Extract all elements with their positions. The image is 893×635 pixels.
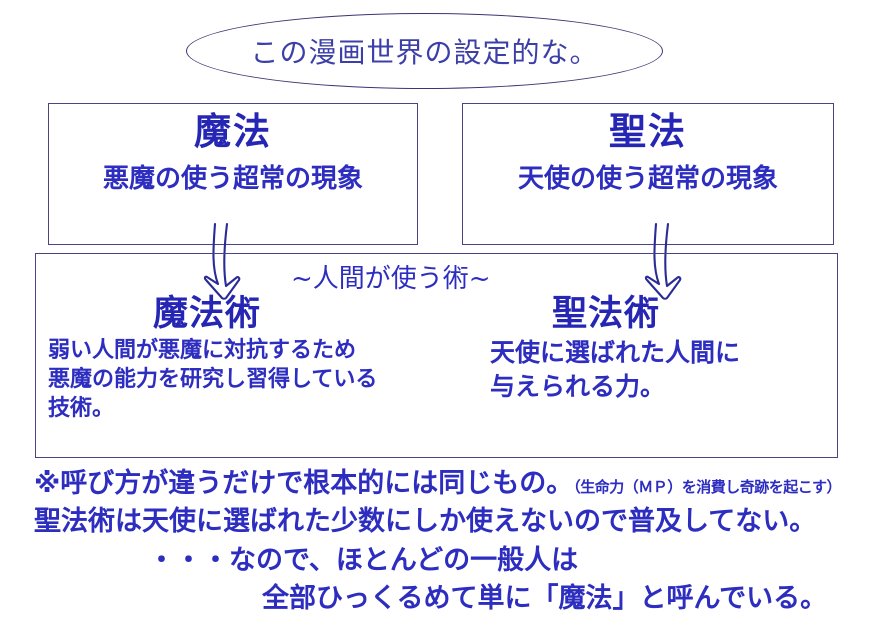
column-magic-art: 魔法術 弱い人間が悪魔に対抗するため 悪魔の能力を研究し習得している 技術。 <box>48 295 438 423</box>
box-holy: 聖法 天使の使う超常の現象 <box>462 103 834 245</box>
box-magic: 魔法 悪魔の使う超常の現象 <box>48 103 418 245</box>
column-holy-art: 聖法術 天使に選ばれた人間に 与えられる力。 <box>470 295 830 404</box>
box-holy-subtitle: 天使の使う超常の現象 <box>463 158 833 195</box>
diagram-canvas: この漫画世界の設定的な。 魔法 悪魔の使う超常の現象 聖法 天使の使う超常の現象… <box>0 0 893 635</box>
title-ellipse: この漫画世界の設定的な。 <box>186 13 663 89</box>
page-title: この漫画世界の設定的な。 <box>250 31 598 71</box>
column-magic-art-line-3: 技術。 <box>48 394 438 423</box>
box-holy-heading: 聖法 <box>463 112 833 152</box>
footnote-line-2: 聖法術は天使に選ばれた少数にしか使えないので普及してない。 <box>0 503 893 541</box>
footnote-line-1-small: （生命力（ＭＰ）を消費し奇跡を起こす） <box>573 478 841 496</box>
footnote-line-4: 全部ひっくるめて単に「魔法」と呼んでいる。 <box>0 580 893 618</box>
column-holy-art-line-1: 天使に選ばれた人間に <box>470 336 830 370</box>
footnote-line-1-main: ※呼び方が違うだけで根本的には同じもの。 <box>34 468 573 499</box>
box-magic-subtitle: 悪魔の使う超常の現象 <box>49 158 417 195</box>
column-holy-art-line-2: 与えられる力。 <box>470 370 830 404</box>
column-magic-art-heading: 魔法術 <box>48 295 438 334</box>
column-holy-art-heading: 聖法術 <box>470 295 830 334</box>
middle-banner-label: ~人間が使う術~ <box>291 258 491 295</box>
box-magic-heading: 魔法 <box>49 112 417 152</box>
footnote-line-1: ※呼び方が違うだけで根本的には同じもの。（生命力（ＭＰ）を消費し奇跡を起こす） <box>0 465 893 503</box>
footnotes: ※呼び方が違うだけで根本的には同じもの。（生命力（ＭＰ）を消費し奇跡を起こす） … <box>0 465 893 618</box>
column-magic-art-line-2: 悪魔の能力を研究し習得している <box>48 365 438 394</box>
column-magic-art-line-1: 弱い人間が悪魔に対抗するため <box>48 336 438 365</box>
footnote-line-3: ・・・なので、ほとんどの一般人は <box>0 542 893 580</box>
